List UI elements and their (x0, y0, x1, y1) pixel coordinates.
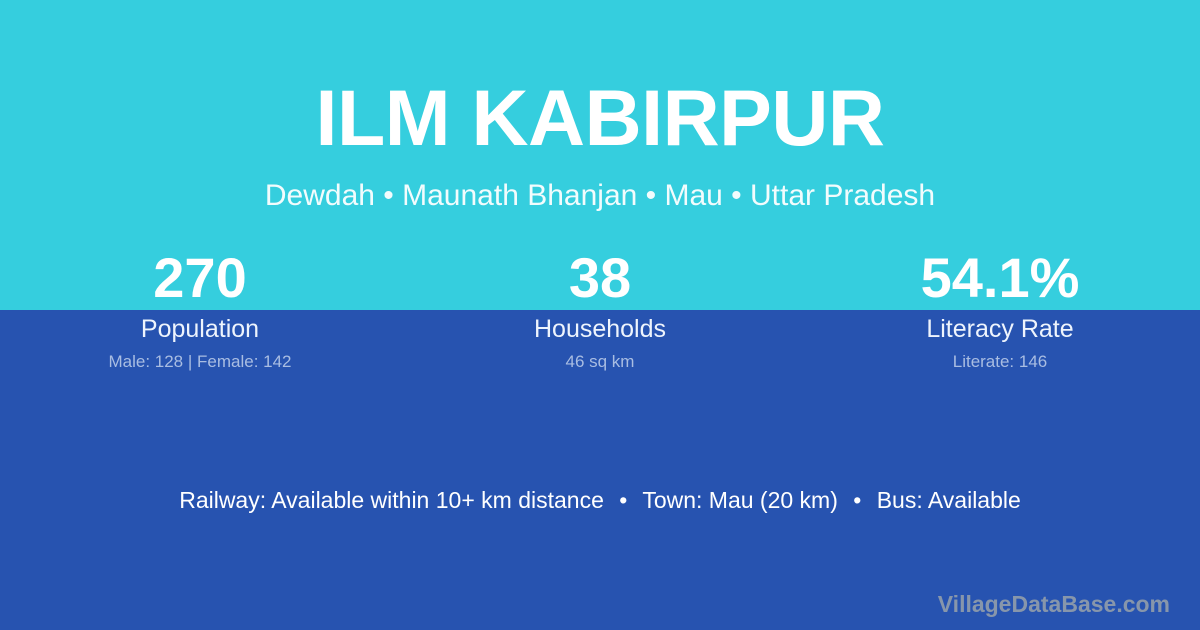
stat-sublabel: Male: 128 | Female: 142 (0, 352, 400, 372)
stat-label: Households (400, 314, 800, 344)
infra-bus: Bus: Available (877, 487, 1021, 513)
infra-railway: Railway: Available within 10+ km distanc… (179, 487, 604, 513)
site-watermark: VillageDataBase.com (938, 590, 1170, 618)
stat-label: Population (0, 314, 400, 344)
infra-separator: • (844, 485, 870, 515)
stat-population: 270 Population Male: 128 | Female: 142 (0, 245, 400, 372)
stat-value: 38 (400, 245, 800, 310)
stat-value: 270 (0, 245, 400, 310)
village-info-card: ILM KABIRPUR Dewdah • Maunath Bhanjan • … (0, 0, 1200, 630)
breadcrumb: Dewdah • Maunath Bhanjan • Mau • Uttar P… (0, 179, 1200, 212)
stat-sublabel: Literate: 146 (800, 352, 1200, 372)
card-header: ILM KABIRPUR Dewdah • Maunath Bhanjan • … (0, 0, 1200, 212)
stat-value: 54.1% (800, 245, 1200, 310)
stat-households: 38 Households 46 sq km (400, 245, 800, 372)
infrastructure-line: Railway: Available within 10+ km distanc… (0, 485, 1200, 515)
page-title: ILM KABIRPUR (0, 78, 1200, 157)
infra-separator: • (610, 485, 636, 515)
stats-row: 270 Population Male: 128 | Female: 142 3… (0, 245, 1200, 372)
stat-literacy-rate: 54.1% Literacy Rate Literate: 146 (800, 245, 1200, 372)
infra-town: Town: Mau (20 km) (642, 487, 838, 513)
stat-label: Literacy Rate (800, 314, 1200, 344)
stat-sublabel: 46 sq km (400, 352, 800, 372)
